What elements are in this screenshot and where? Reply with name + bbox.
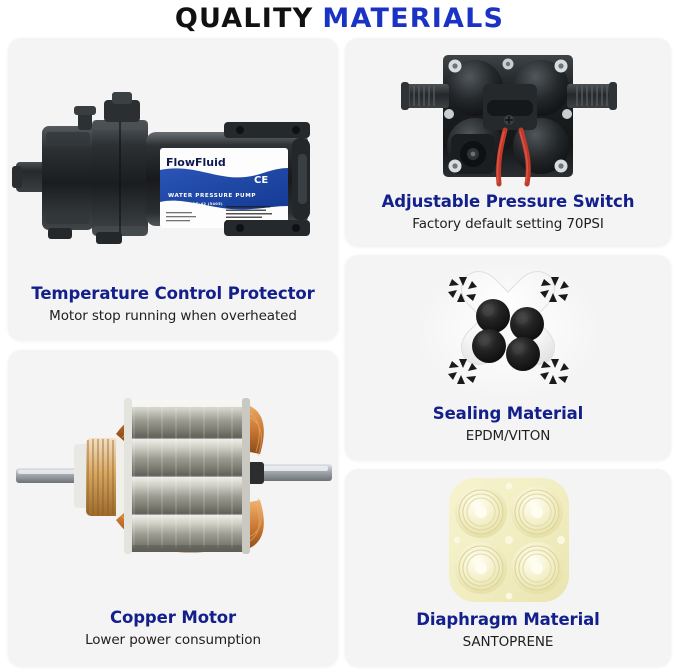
caption-copper: Copper Motor Lower power consumption (8, 608, 338, 666)
svg-text:FlowFluid: FlowFluid (166, 156, 226, 169)
pressure-switch-housing (483, 84, 537, 130)
copper-motor-armature-photo (8, 350, 338, 608)
feature-card-temperature-control-protector[interactable]: FlowFluid CE WATER PRESSURE PUMP MODEL: … (8, 38, 338, 340)
commutator (74, 434, 130, 520)
sealing-plate-illustration (345, 258, 671, 401)
infographic-page: QUALITYMATERIALS (0, 0, 679, 670)
feature-card-diaphragm-material[interactable]: Diaphragm Material SANTOPRENE (345, 469, 671, 666)
svg-text:CE: CE (254, 175, 268, 186)
svg-text:WATER PRESSURE PUMP: WATER PRESSURE PUMP (168, 193, 256, 199)
feature-card-adjustable-pressure-switch[interactable]: Adjustable Pressure Switch Factory defau… (345, 38, 671, 246)
caption-sealing: Sealing Material EPDM/VITON (345, 404, 671, 460)
right-threaded-port (567, 82, 617, 110)
card-heading-copper: Copper Motor (8, 608, 338, 628)
left-threaded-port (401, 82, 449, 110)
card-subtext-diaphragm: SANTOPRENE (345, 633, 671, 652)
feature-card-grid: FlowFluid CE WATER PRESSURE PUMP MODEL: … (0, 36, 679, 670)
pump-head-illustration (345, 42, 671, 188)
card-heading-sealing: Sealing Material (345, 404, 671, 424)
feature-card-copper-motor[interactable]: Copper Motor Lower power consumption (8, 350, 338, 666)
card-heading-pressure: Adjustable Pressure Switch (345, 192, 671, 212)
card-heading-diaphragm: Diaphragm Material (345, 610, 671, 630)
svg-text:MODEL: LSDP-42 (5405): MODEL: LSDP-42 (5405) (168, 202, 223, 206)
caption-temperature: Temperature Control Protector Motor stop… (8, 284, 338, 340)
title-word-materials: MATERIALS (322, 3, 504, 34)
pump-illustration: FlowFluid CE WATER PRESSURE PUMP MODEL: … (8, 54, 338, 269)
caption-diaphragm: Diaphragm Material SANTOPRENE (345, 610, 671, 666)
title-word-quality: QUALITY (175, 3, 314, 34)
left-column: FlowFluid CE WATER PRESSURE PUMP MODEL: … (8, 38, 338, 666)
right-column: Adjustable Pressure Switch Factory defau… (345, 38, 671, 666)
card-subtext-pressure: Factory default setting 70PSI (345, 215, 671, 234)
feature-card-sealing-material[interactable]: Sealing Material EPDM/VITON (345, 255, 671, 460)
page-title-text: QUALITYMATERIALS (175, 3, 504, 34)
laminated-core (124, 398, 250, 554)
card-subtext-temperature: Motor stop running when overheated (8, 307, 338, 326)
pressure-switch-pump-head-photo (345, 38, 671, 192)
card-subtext-sealing: EPDM/VITON (345, 427, 671, 446)
water-pressure-pump-photo: FlowFluid CE WATER PRESSURE PUMP MODEL: … (8, 38, 338, 284)
four-chamber-diaphragm-photo (345, 469, 671, 610)
card-heading-temperature: Temperature Control Protector (8, 284, 338, 304)
pump-label: FlowFluid CE WATER PRESSURE PUMP MODEL: … (160, 148, 288, 228)
diaphragm-illustration (345, 472, 671, 607)
caption-pressure: Adjustable Pressure Switch Factory defau… (345, 192, 671, 246)
page-title: QUALITYMATERIALS (0, 0, 679, 36)
card-subtext-copper: Lower power consumption (8, 631, 338, 650)
valve-sealing-plate-photo (345, 255, 671, 404)
armature-illustration (8, 364, 338, 594)
